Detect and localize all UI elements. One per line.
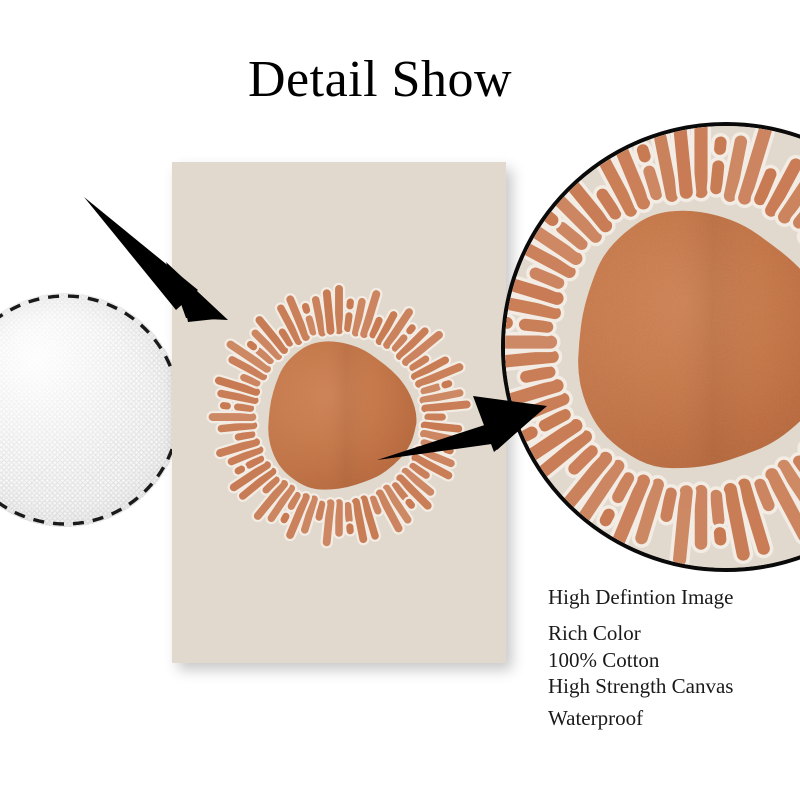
detail-show-panel: Detail Show <box>0 0 800 800</box>
dashed-circle-border-icon <box>0 293 182 527</box>
feature-item: High Strength Canvas <box>548 674 733 699</box>
feature-item: Rich Color <box>548 621 641 646</box>
feature-item: High Defintion Image <box>548 585 733 610</box>
feature-item: 100% Cotton <box>548 648 659 673</box>
feature-item: Waterproof <box>548 706 643 731</box>
sun-burst-illustration <box>172 162 506 663</box>
sun-burst-illustration-zoomed <box>505 126 800 568</box>
magnifier-circle <box>501 122 800 572</box>
poster-artwork <box>172 162 506 663</box>
fabric-swatch <box>0 293 182 527</box>
page-title: Detail Show <box>0 52 760 108</box>
